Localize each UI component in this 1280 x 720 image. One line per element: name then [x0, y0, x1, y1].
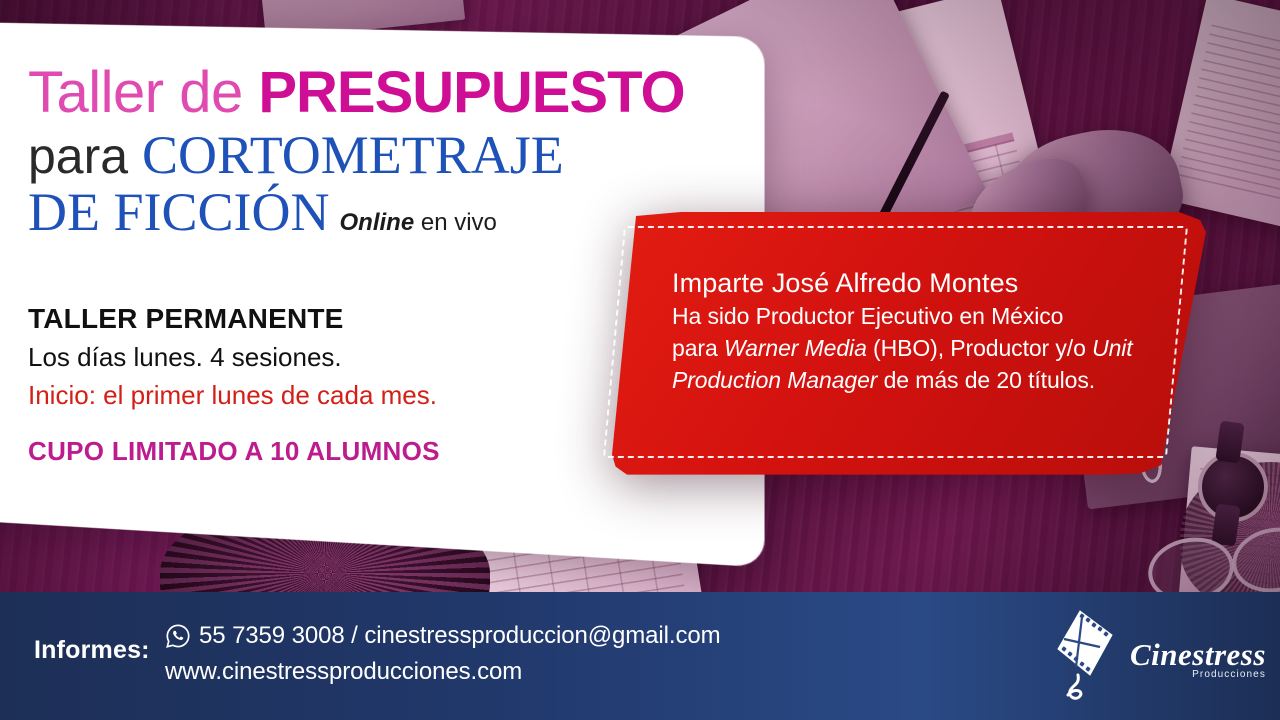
- headline-line-3: DE FICCIÓNOnline en vivo: [28, 181, 685, 243]
- detail-taller-permanente: TALLER PERMANENTE: [28, 300, 440, 338]
- bio-warner-media: Warner Media: [724, 335, 867, 361]
- instructor-bio-line-3: Production Manager de más de 20 títulos.: [672, 364, 1142, 396]
- contact-phone-row: 55 7359 3008 / cinestressproduccion@gmai…: [165, 618, 721, 654]
- detail-capacity: CUPO LIMITADO A 10 ALUMNOS: [28, 436, 440, 467]
- headline-para: para: [28, 128, 142, 184]
- headline-de-ficcion: DE FICCIÓN: [28, 182, 330, 242]
- bio-hbo: (HBO), Productor y/o: [867, 335, 1092, 361]
- poster-flyer: Taller de PRESUPUESTO para CORTOMETRAJE …: [0, 0, 1280, 720]
- logo-name: Cinestress: [1130, 637, 1266, 672]
- informes-label: Informes:: [34, 636, 150, 665]
- footer-bar: Informes: 55 7359 3008 / cinestressprodu…: [0, 592, 1280, 720]
- headline-taller-de: Taller de: [28, 60, 258, 125]
- headline-presupuesto: PRESUPUESTO: [258, 60, 684, 125]
- whatsapp-icon: [165, 623, 191, 649]
- detail-start-date: Inicio: el primer lunes de cada mes.: [28, 376, 440, 414]
- instructor-name: Imparte José Alfredo Montes: [672, 266, 1142, 300]
- instructor-text-block: Imparte José Alfredo Montes Ha sido Prod…: [672, 266, 1142, 396]
- instructor-panel: Imparte José Alfredo Montes Ha sido Prod…: [612, 208, 1212, 476]
- headline-block: Taller de PRESUPUESTO para CORTOMETRAJE …: [28, 62, 685, 243]
- bio-para: para: [672, 335, 724, 361]
- modality-en-vivo: en vivo: [414, 209, 497, 236]
- contact-block: 55 7359 3008 / cinestressproduccion@gmai…: [165, 618, 721, 690]
- contact-website-row: www.cinestressproducciones.com: [165, 654, 721, 690]
- headline-line-2: para CORTOMETRAJE: [28, 126, 685, 185]
- film-kite-icon: [1050, 605, 1124, 714]
- detail-days: Los días lunes. 4 sesiones.: [28, 338, 440, 376]
- cinestress-logo: Cinestress Producciones: [1050, 604, 1260, 714]
- headline-line-1: Taller de PRESUPUESTO: [28, 62, 685, 124]
- bio-titulos: de más de 20 títulos.: [877, 367, 1095, 393]
- instructor-bio-line-1: Ha sido Productor Ejecutivo en México: [672, 300, 1142, 332]
- bio-production-manager: Production Manager: [672, 367, 877, 393]
- modality-online: Online: [340, 209, 415, 236]
- logo-text-block: Cinestress Producciones: [1130, 639, 1266, 680]
- contact-website[interactable]: www.cinestressproducciones.com: [165, 654, 522, 690]
- bio-unit: Unit: [1092, 335, 1133, 361]
- contact-phone-email[interactable]: 55 7359 3008 / cinestressproduccion@gmai…: [199, 618, 721, 654]
- headline-cortometraje: CORTOMETRAJE: [142, 125, 564, 185]
- details-block: TALLER PERMANENTE Los días lunes. 4 sesi…: [28, 300, 440, 467]
- instructor-bio-line-2: para Warner Media (HBO), Productor y/o U…: [672, 332, 1142, 364]
